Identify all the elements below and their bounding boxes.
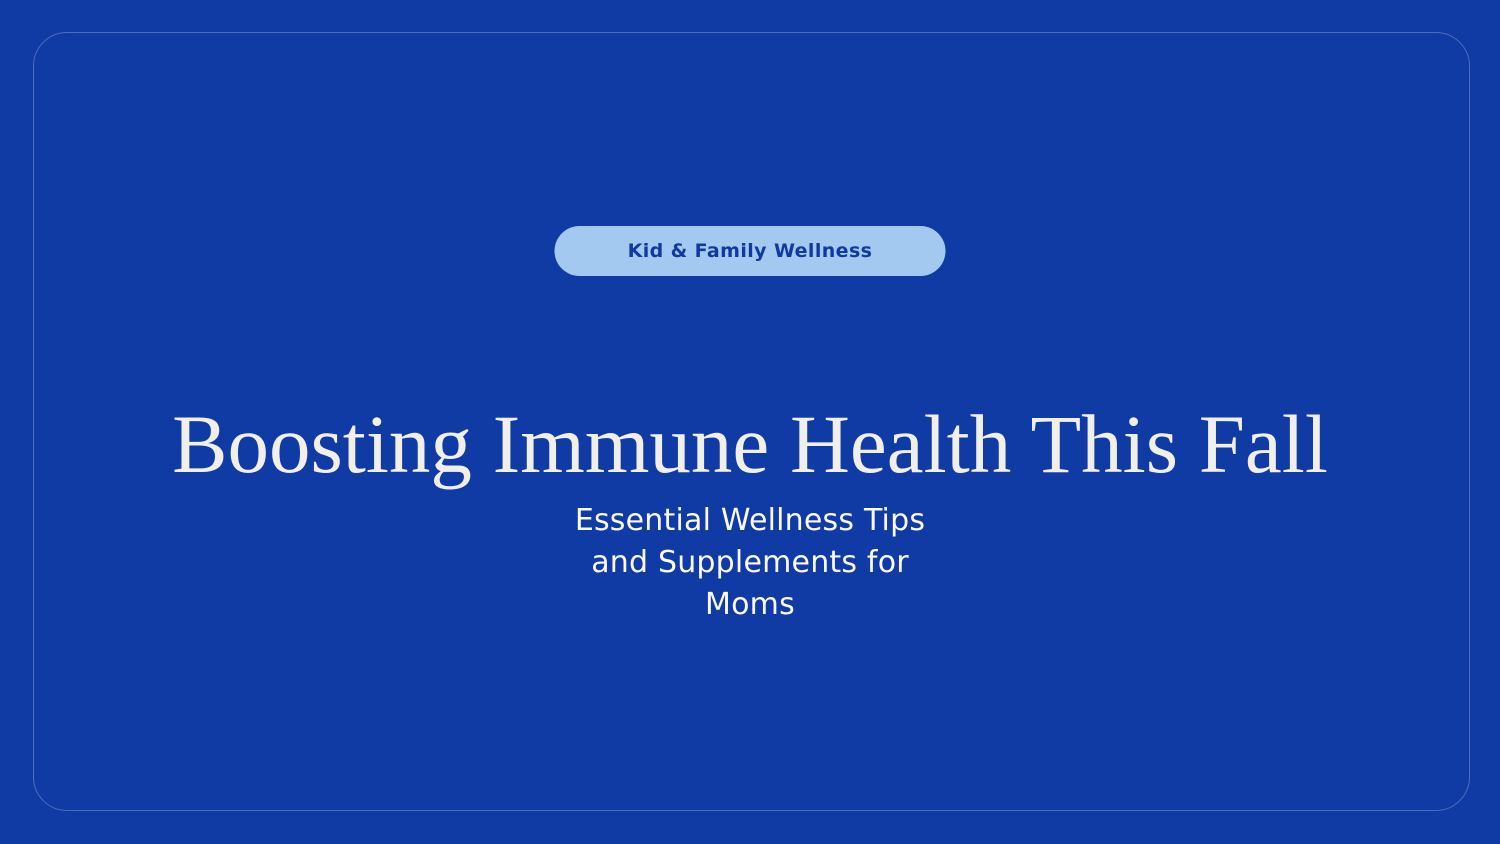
slide-title: Boosting Immune Health This Fall [50, 400, 1450, 490]
slide-subtitle: Essential Wellness Tips and Supplements … [470, 500, 1030, 626]
subtitle-line-1: Essential Wellness Tips [470, 500, 1030, 542]
category-badge: Kid & Family Wellness [555, 226, 946, 276]
title-slide: Kid & Family Wellness Boosting Immune He… [0, 0, 1500, 844]
subtitle-line-2: and Supplements for [470, 542, 1030, 584]
subtitle-line-3: Moms [470, 584, 1030, 626]
slide-content: Kid & Family Wellness Boosting Immune He… [0, 0, 1500, 844]
category-badge-label: Kid & Family Wellness [628, 242, 873, 261]
